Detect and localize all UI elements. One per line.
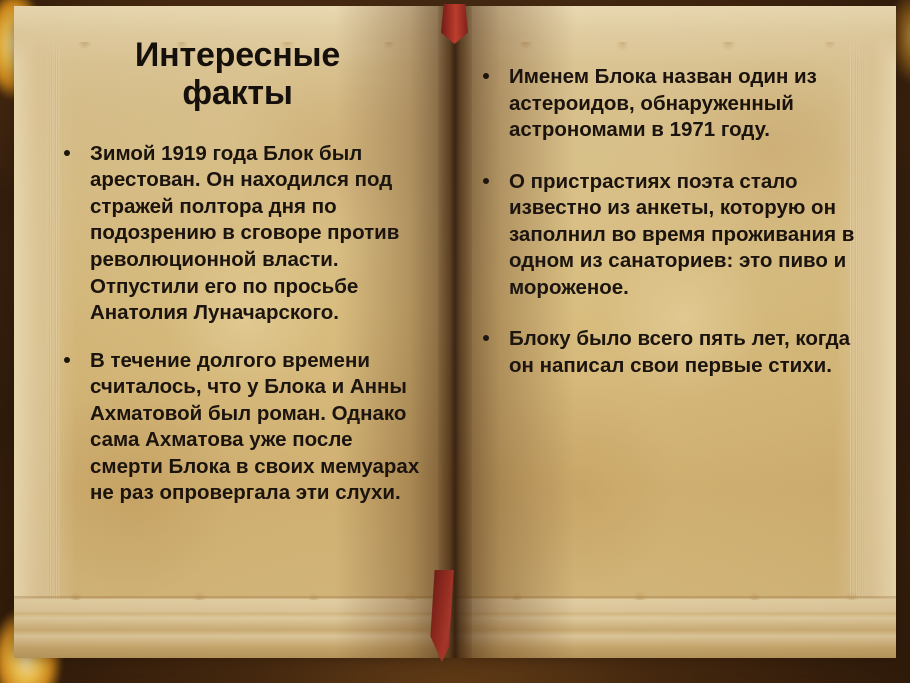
open-book: Интересные факты Зимой 1919 года Блок бы… [14, 6, 896, 658]
list-item: Блоку было всего пять лет, когда он напи… [479, 326, 856, 379]
fact-text: Именем Блока назван один из астероидов, … [509, 65, 817, 141]
fact-text: Блоку было всего пять лет, когда он напи… [509, 327, 850, 377]
fact-list-right: Именем Блока назван один из астероидов, … [479, 64, 856, 379]
bullet-icon [483, 178, 489, 184]
list-item: Именем Блока назван один из астероидов, … [479, 64, 856, 144]
list-item: В течение долгого времени считалось, что… [60, 348, 431, 507]
bullet-icon [483, 73, 489, 79]
bullet-icon [483, 335, 489, 341]
fact-text: О пристрастиях поэта стало известно из а… [509, 170, 854, 299]
slide-canvas: Интересные факты Зимой 1919 года Блок бы… [0, 0, 910, 683]
bullet-icon [64, 150, 70, 156]
book-page-left: Интересные факты Зимой 1919 года Блок бы… [14, 6, 455, 658]
page-title: Интересные факты [70, 36, 405, 113]
fact-list-left: Зимой 1919 года Блок был арестован. Он н… [60, 141, 431, 507]
page-title-line-1: Интересные [70, 36, 405, 74]
left-page-content: Интересные факты Зимой 1919 года Блок бы… [60, 6, 431, 658]
fact-text: В течение долгого времени считалось, что… [90, 349, 419, 505]
list-item: Зимой 1919 года Блок был арестован. Он н… [60, 141, 431, 327]
fact-text: Зимой 1919 года Блок был арестован. Он н… [90, 142, 399, 324]
book-page-right: Именем Блока назван один из астероидов, … [455, 6, 896, 658]
list-item: О пристрастиях поэта стало известно из а… [479, 169, 856, 302]
right-page-content: Именем Блока назван один из астероидов, … [479, 6, 856, 658]
book-spine-crease [438, 6, 472, 658]
page-title-line-2: факты [70, 74, 405, 112]
bullet-icon [64, 357, 70, 363]
